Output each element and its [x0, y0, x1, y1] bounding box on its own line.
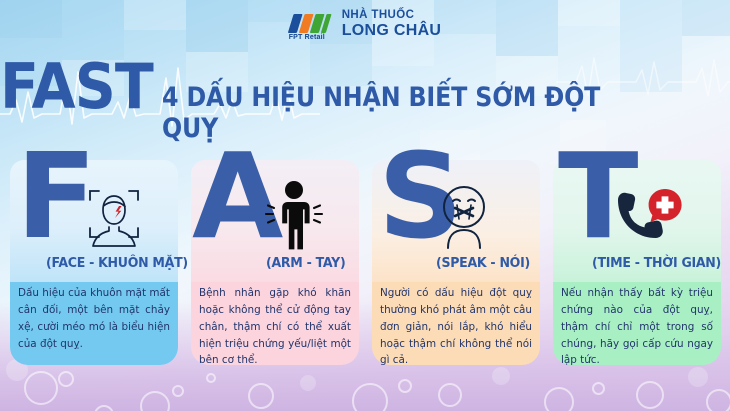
card-time-body: Nếu nhận thấy bất kỳ triệu chứng nào của… — [561, 285, 713, 369]
emergency-phone-icon — [608, 186, 684, 252]
person-arm-icon — [258, 178, 330, 252]
fast-cards: F (FACE - KHUÔN MẶT) Dấu hiệu của khuôn … — [0, 0, 730, 411]
card-arm-label: (ARM - TAY) — [266, 255, 345, 271]
face-scan-icon — [78, 180, 150, 250]
mouth-crossed-icon — [426, 182, 502, 252]
infographic-canvas: FPT Retail NHÀ THUỐC LONG CHÂU FAST 4 DẤ… — [0, 0, 730, 411]
card-arm-body: Bệnh nhân gặp khó khăn hoặc không thể cử… — [199, 285, 351, 369]
card-face-body: Dấu hiệu của khuôn mặt mất cân đối, một … — [18, 285, 170, 352]
card-face-label: (FACE - KHUÔN MẶT) — [46, 255, 188, 271]
card-time-label: (TIME - THỜI GIAN) — [592, 255, 721, 271]
card-speak-body: Người có dấu hiệu đột quỵ thường khó phá… — [380, 285, 532, 369]
card-speak-label: (SPEAK - NÓI) — [436, 255, 530, 271]
